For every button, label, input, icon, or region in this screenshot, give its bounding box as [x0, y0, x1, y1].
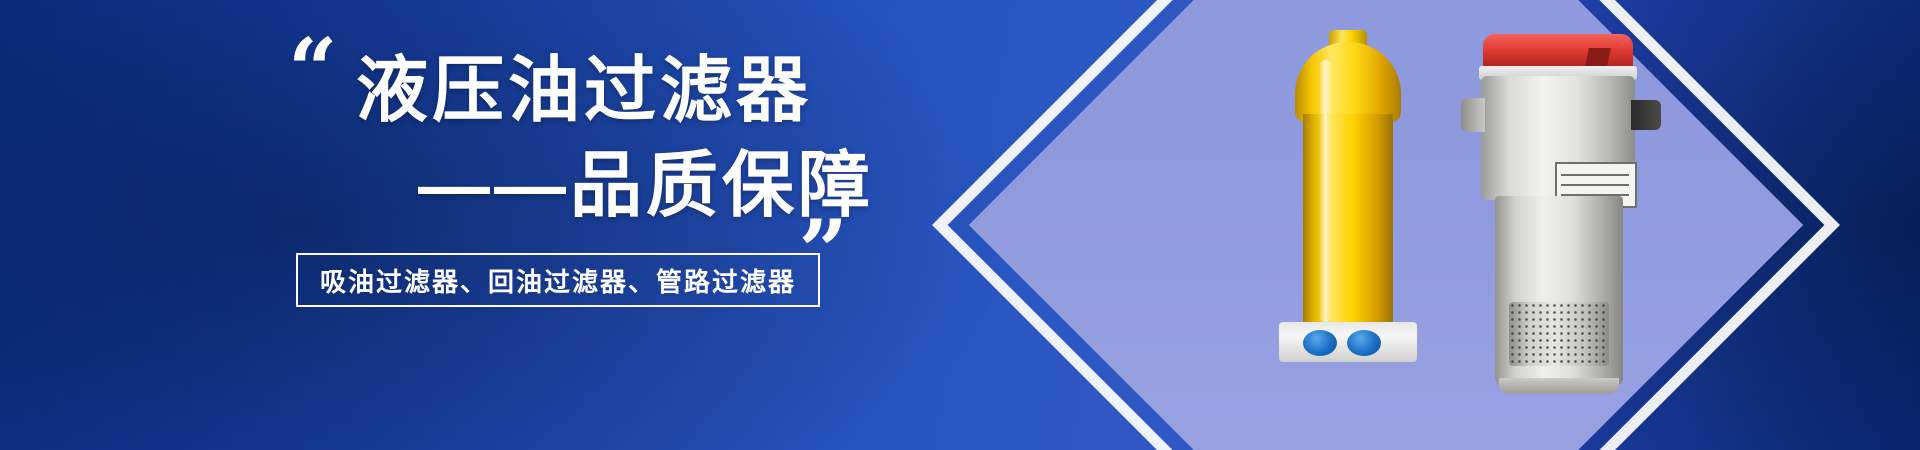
return-filter-left-port	[1461, 98, 1485, 132]
suction-filter-port-left	[1303, 330, 1337, 356]
label-line-2	[1561, 184, 1629, 186]
return-filter-right-port	[1631, 100, 1661, 130]
promo-banner: “ 液压油过滤器 ——品质保障 „ 吸油过滤器、回油过滤器、管路过滤器	[0, 0, 1920, 450]
return-filter-product	[1443, 20, 1693, 420]
suction-filter-body	[1303, 114, 1393, 326]
suction-filter-dome	[1295, 42, 1401, 122]
close-quote-mark: „	[800, 160, 849, 246]
return-filter-red-cap	[1483, 34, 1633, 70]
headline-line-1: 液压油过滤器	[336, 44, 1056, 139]
headline-line-2: ——品质保障	[336, 139, 1056, 234]
suction-filter-product	[1273, 30, 1423, 410]
suction-filter-port-right	[1347, 330, 1381, 356]
subtitle-text: 吸油过滤器、回油过滤器、管路过滤器	[320, 262, 796, 299]
diamond-left-mask	[1061, 0, 1211, 450]
product-photo-group	[1255, 0, 1715, 450]
subtitle-box: 吸油过滤器、回油过滤器、管路过滤器	[296, 253, 820, 307]
return-filter-bottom-cap	[1499, 378, 1619, 394]
suction-filter-highlight	[1319, 60, 1332, 322]
return-filter-head	[1481, 76, 1635, 200]
headline-block: 液压油过滤器 ——品质保障	[336, 44, 1056, 234]
return-filter-cap-notch	[1585, 48, 1611, 66]
label-line-1	[1561, 174, 1629, 176]
return-filter-mesh-screen	[1509, 302, 1609, 366]
open-quote-mark: “	[288, 28, 337, 114]
